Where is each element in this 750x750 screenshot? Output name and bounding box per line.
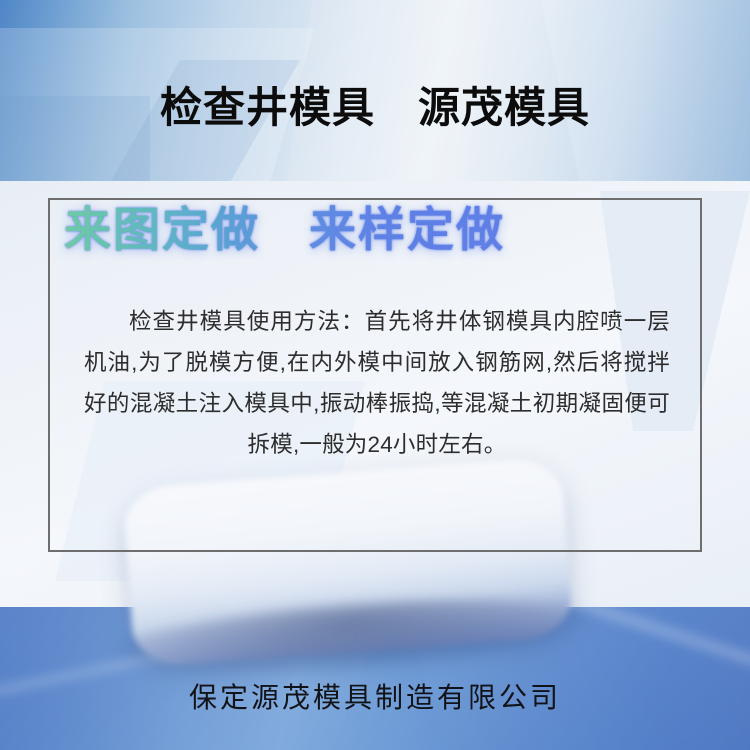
custom-order-headline: 来图定做 来样定做: [64, 202, 504, 257]
usage-instructions-text: 检查井模具使用方法：首先将井体钢模具内腔喷一层机油,为了脱模方便,在内外模中间放…: [84, 301, 670, 465]
footer-sweep-decor-3: [525, 607, 750, 685]
company-name: 保定源茂模具制造有限公司: [0, 676, 750, 716]
poster-root: 检查井模具 源茂模具 来图定做 来样定做 检查井模具使用方法：首先将井体钢模具内…: [0, 0, 750, 750]
bordered-content-box: 来图定做 来样定做 检查井模具使用方法：首先将井体钢模具内腔喷一层机油,为了脱模…: [48, 198, 702, 552]
content-panel: 来图定做 来样定做 检查井模具使用方法：首先将井体钢模具内腔喷一层机油,为了脱模…: [0, 181, 750, 607]
page-title: 检查井模具 源茂模具: [0, 84, 750, 132]
